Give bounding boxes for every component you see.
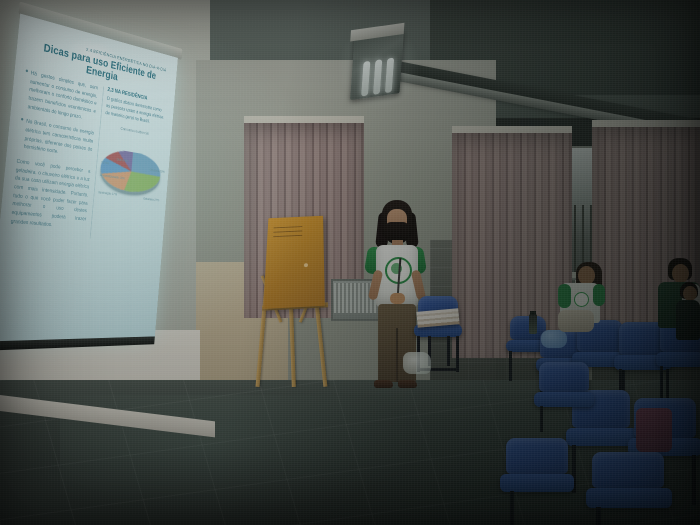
photo-scene: 2.4 EFICIÊNCIA ENERGÉTICA NO DIA-A-DIA D… bbox=[0, 0, 700, 525]
slide-bullet-2: ● No Brasil, o consumo de energia elétri… bbox=[18, 117, 95, 162]
slide-closing: Como você pode perceber a geladeira, o c… bbox=[10, 158, 90, 232]
chair-leg bbox=[596, 507, 601, 525]
attendee-1-shirt-logo bbox=[574, 292, 589, 307]
pie-label-geladeira: Geladeira 27% bbox=[143, 197, 159, 202]
drink-bottle[interactable] bbox=[529, 314, 537, 334]
presenter-shoe-left bbox=[374, 380, 393, 388]
chair-row4-b[interactable] bbox=[500, 438, 578, 525]
chair-seat bbox=[656, 352, 700, 367]
projection-screen: 2.4 EFICIÊNCIA ENERGÉTICA NO DIA-A-DIA D… bbox=[0, 14, 178, 352]
bottle-cap bbox=[530, 311, 536, 315]
chair-leg bbox=[540, 406, 543, 432]
blind-rail-far bbox=[592, 120, 700, 127]
attendee-4 bbox=[636, 408, 672, 456]
slide-closing-text: Como você pode perceber a geladeira, o c… bbox=[10, 158, 90, 232]
blind-rail-right bbox=[452, 126, 572, 133]
chair-leg bbox=[456, 336, 459, 372]
easel-handwriting bbox=[273, 224, 302, 238]
chair-leg bbox=[509, 351, 512, 381]
slide-pie-chart: Consumo residencial Chuveiro 26%Geladeir… bbox=[95, 123, 164, 235]
chair-back bbox=[539, 362, 589, 392]
presenter-shoe-right bbox=[398, 380, 417, 388]
pie-chart-labels: Chuveiro 26%Geladeira 27%Iluminação 17%A… bbox=[97, 206, 157, 212]
chair-seat bbox=[534, 392, 594, 407]
slide-bullet-1-text: Há gestos simples que, sem aumentar o co… bbox=[27, 70, 98, 124]
attendee-4-clothing bbox=[636, 408, 672, 452]
attendee-3-shirt bbox=[676, 300, 700, 340]
chair-seat bbox=[500, 474, 574, 492]
slide-bullet-1: ● Há gestos simples que, sem aumentar o … bbox=[21, 68, 98, 124]
attendee-1 bbox=[552, 262, 614, 342]
screen-surface: 2.4 EFICIÊNCIA ENERGÉTICA NO DIA-A-DIA D… bbox=[0, 14, 178, 344]
slide-right-column: 2.3 NA RESIDÊNCIA O gráfico abaixo demon… bbox=[90, 86, 167, 243]
easel-board[interactable] bbox=[263, 216, 325, 309]
chair-mid[interactable] bbox=[534, 362, 596, 432]
attendee-3-head bbox=[683, 286, 697, 301]
attendee-1-sleeve-right bbox=[593, 284, 605, 306]
ceiling-light-fixture bbox=[350, 30, 404, 100]
presenter-leg-split bbox=[396, 328, 398, 382]
slide-bullet-2-text: No Brasil, o consumo de energia elétrica… bbox=[23, 118, 94, 162]
presentation-slide: 2.4 EFICIÊNCIA ENERGÉTICA NO DIA-A-DIA D… bbox=[0, 14, 178, 344]
chair-seat bbox=[586, 488, 672, 508]
chair-back bbox=[592, 452, 664, 488]
easel-board-mark bbox=[304, 263, 308, 267]
slide-left-column: ● Há gestos simples que, sem aumentar o … bbox=[10, 68, 99, 238]
chair-leg bbox=[692, 455, 696, 505]
chair-back bbox=[506, 438, 568, 474]
presenter-hands bbox=[390, 293, 405, 304]
attendee-1-sleeve-left bbox=[558, 284, 571, 308]
flipchart-easel[interactable] bbox=[256, 212, 338, 387]
attendee-2-head bbox=[672, 264, 689, 283]
attendee-1-bag bbox=[558, 310, 594, 332]
attendee-3 bbox=[676, 282, 700, 352]
chair-leg bbox=[510, 491, 514, 525]
chair-leg bbox=[447, 336, 450, 366]
blind-rail-back bbox=[244, 116, 364, 123]
plastic-bag[interactable] bbox=[403, 352, 431, 374]
pie-label-iluminação: Iluminação 17% bbox=[98, 191, 117, 197]
chair-row4-a[interactable] bbox=[586, 452, 674, 525]
